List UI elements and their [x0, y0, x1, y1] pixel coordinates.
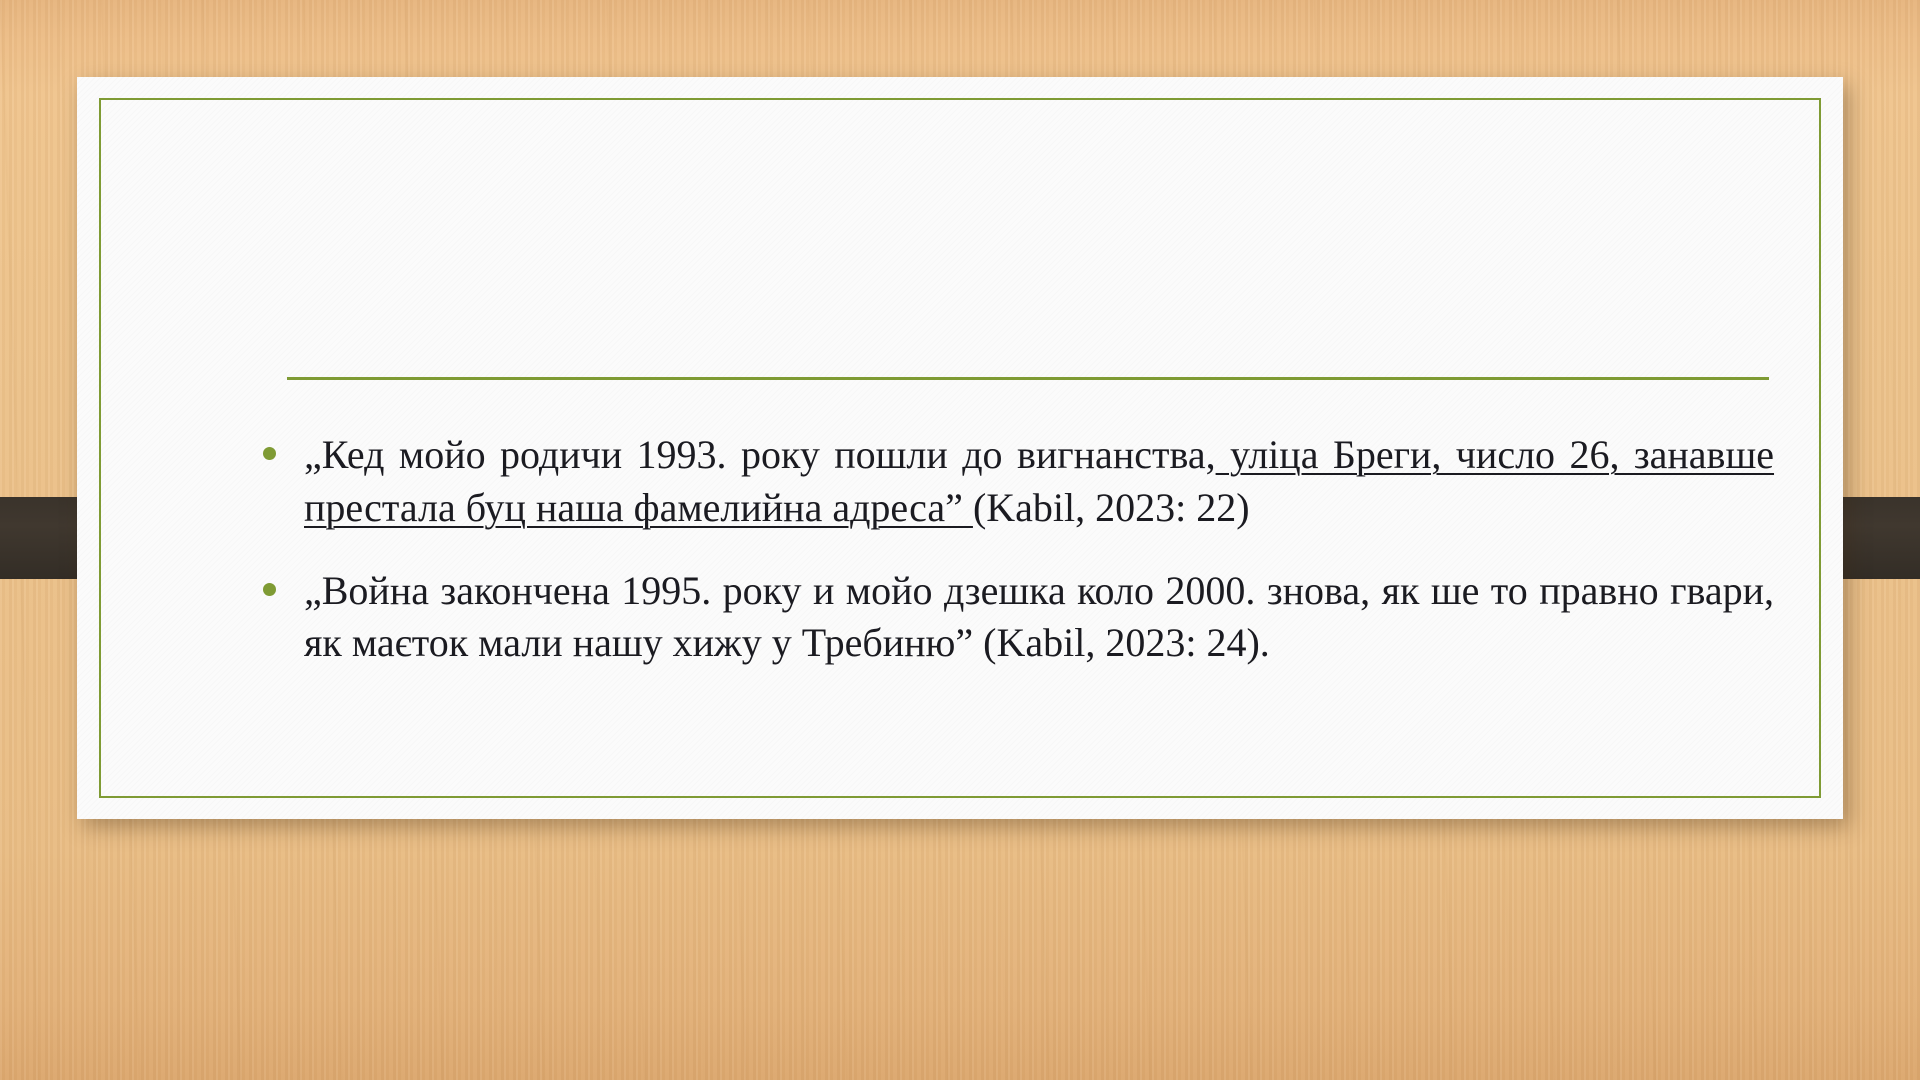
list-item[interactable]: „Война закончена 1995. року и мойо дзешк… [249, 565, 1774, 671]
bullet-dot-icon [263, 447, 276, 460]
horizontal-rule [287, 377, 1769, 380]
slide-root: „Кед мойо родичи 1993. року пошли до виг… [0, 0, 1920, 1080]
slide-card: „Кед мойо родичи 1993. року пошли до виг… [77, 77, 1843, 819]
list-item[interactable]: „Кед мойо родичи 1993. року пошли до виг… [249, 429, 1774, 535]
bullet-dot-icon [263, 583, 276, 596]
quote-lead-text: „Война закончена 1995. року и мойо дзешк… [304, 568, 1774, 666]
quote-citation-text: (Kabil, 2023: 22) [973, 485, 1250, 530]
quote-lead-text: „Кед мойо родичи 1993. року пошли до виг… [304, 432, 1216, 477]
bullet-list: „Кед мойо родичи 1993. року пошли до виг… [249, 429, 1774, 670]
